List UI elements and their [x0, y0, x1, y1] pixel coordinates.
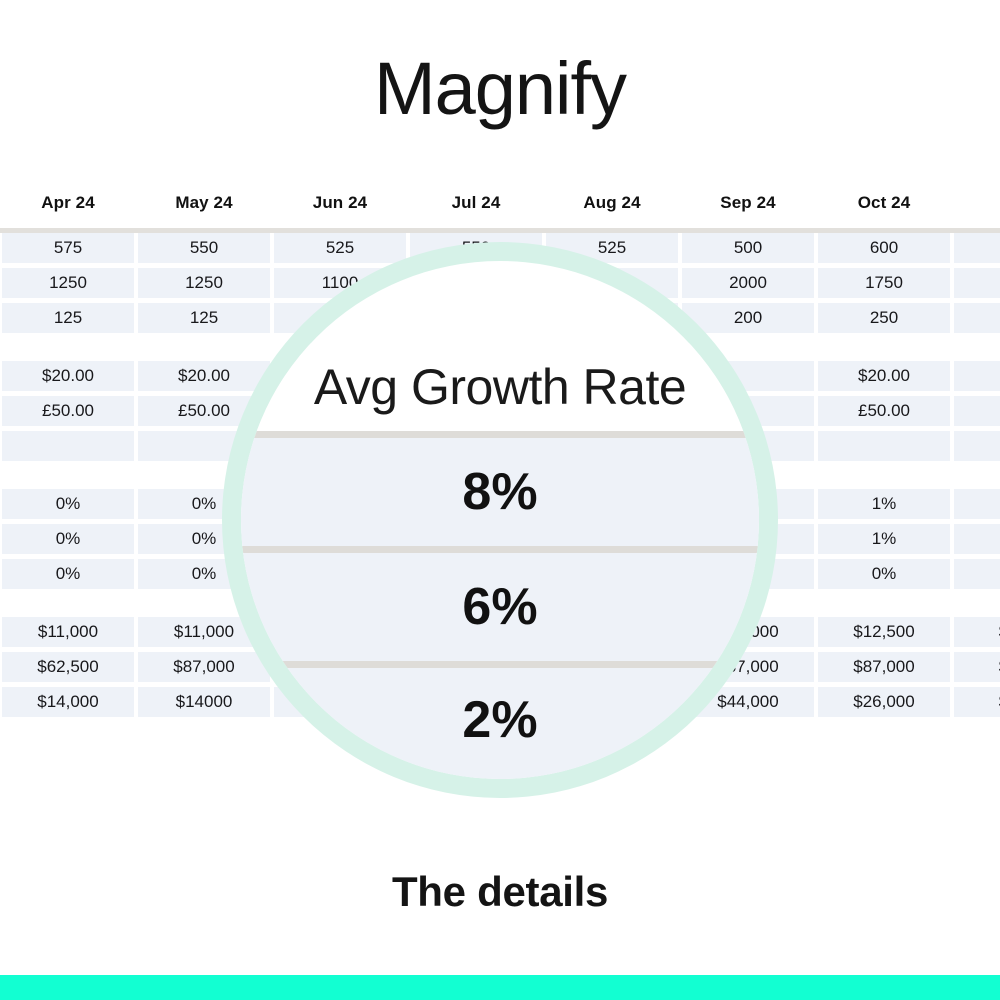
- table-cell[interactable]: 275: [952, 303, 1000, 333]
- table-cell[interactable]: 0%: [0, 524, 136, 554]
- magnified-divider-2: [241, 546, 759, 553]
- table-cell[interactable]: £50.: [952, 396, 1000, 426]
- magnified-header-label: Avg Growth Rate: [241, 343, 759, 431]
- column-header: Aug 24: [544, 180, 680, 225]
- table-cell[interactable]: $87,0: [952, 652, 1000, 682]
- table-cell[interactable]: $20.00: [0, 361, 136, 391]
- table-cell[interactable]: 575: [0, 233, 136, 263]
- page-title: Magnify: [0, 52, 1000, 126]
- column-header-row: Apr 24May 24Jun 24Jul 24Aug 24Sep 24Oct …: [0, 180, 1000, 225]
- table-cell[interactable]: $62,500: [0, 652, 136, 682]
- table-cell[interactable]: $20,0: [952, 687, 1000, 717]
- table-cell[interactable]: 1750: [816, 268, 952, 298]
- table-cell[interactable]: £50.00: [0, 396, 136, 426]
- table-cell[interactable]: 625: [952, 233, 1000, 263]
- magnified-value-1: 8%: [241, 438, 759, 546]
- table-cell[interactable]: 1%: [816, 524, 952, 554]
- magnified-divider-3: [241, 661, 759, 668]
- magnified-value-2: 6%: [241, 553, 759, 661]
- table-cell[interactable]: 525: [272, 233, 408, 263]
- table-cell[interactable]: 550: [136, 233, 272, 263]
- table-cell[interactable]: 175: [952, 268, 1000, 298]
- table-cell[interactable]: 1%: [816, 489, 952, 519]
- column-header: Jun 24: [272, 180, 408, 225]
- magnified-divider-1: [241, 431, 759, 438]
- column-header: Nov: [952, 180, 1000, 225]
- table-cell[interactable]: 2%: [952, 489, 1000, 519]
- table-cell[interactable]: 600: [816, 233, 952, 263]
- magnifier-lens-inner: Avg Growth Rate 8% 6% 2%: [241, 261, 759, 779]
- table-cell[interactable]: [816, 431, 952, 461]
- table-cell[interactable]: $12,500: [816, 617, 952, 647]
- magnified-content: Avg Growth Rate 8% 6% 2%: [241, 261, 759, 779]
- table-cell[interactable]: 0%: [816, 559, 952, 589]
- accent-bar: [0, 975, 1000, 1000]
- table-cell[interactable]: $12,5: [952, 617, 1000, 647]
- table-cell[interactable]: 125: [0, 303, 136, 333]
- footer-title: The details: [0, 868, 1000, 916]
- table-cell[interactable]: $11,000: [0, 617, 136, 647]
- table-cell[interactable]: 2%: [952, 559, 1000, 589]
- table-cell[interactable]: 3%: [952, 524, 1000, 554]
- table-cell[interactable]: £50.00: [816, 396, 952, 426]
- table-cell[interactable]: $87,000: [816, 652, 952, 682]
- column-header: Jul 24: [408, 180, 544, 225]
- table-cell[interactable]: $26,000: [816, 687, 952, 717]
- table-cell[interactable]: 250: [816, 303, 952, 333]
- column-header: Apr 24: [0, 180, 136, 225]
- magnifier-lens: Avg Growth Rate 8% 6% 2%: [222, 242, 778, 798]
- table-cell[interactable]: 0%: [0, 559, 136, 589]
- table-cell[interactable]: 1250: [0, 268, 136, 298]
- table-cell[interactable]: $14,000: [0, 687, 136, 717]
- column-header: Sep 24: [680, 180, 816, 225]
- table-cell[interactable]: $20.00: [816, 361, 952, 391]
- table-cell[interactable]: [952, 431, 1000, 461]
- column-header: Oct 24: [816, 180, 952, 225]
- table-cell[interactable]: 500: [680, 233, 816, 263]
- table-cell[interactable]: [0, 431, 136, 461]
- magnified-value-3: 2%: [241, 668, 759, 779]
- column-header: May 24: [136, 180, 272, 225]
- table-cell[interactable]: $20.: [952, 361, 1000, 391]
- table-cell[interactable]: 0%: [0, 489, 136, 519]
